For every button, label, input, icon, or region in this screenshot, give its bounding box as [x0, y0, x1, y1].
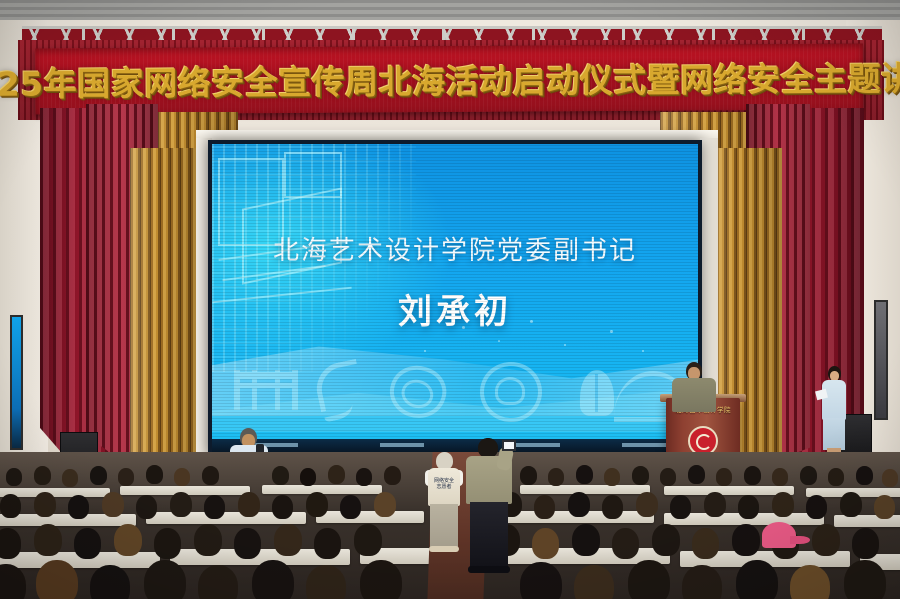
circuit-box [284, 152, 342, 198]
left-side-display [10, 315, 23, 450]
archway-icon [234, 370, 298, 410]
auditorium-scene: 2025年国家网络安全宣传周北海活动启动仪式暨网络安全主题讲座 [0, 0, 900, 599]
head [478, 438, 498, 458]
camera-device [502, 440, 516, 451]
trousers [470, 502, 508, 568]
trousers [430, 504, 458, 548]
skirt [823, 418, 845, 450]
shoes [468, 566, 510, 573]
event-banner: 2025年国家网络安全宣传周北海活动启动仪式暨网络安全主题讲座 [35, 43, 863, 114]
emblem-icon [480, 362, 542, 422]
screen-name-line: 刘承初 [212, 284, 698, 333]
screen-bottom-bar [212, 439, 698, 452]
shoes [429, 546, 459, 552]
torso [672, 378, 716, 412]
banner-title: 2025年国家网络安全宣传周北海活动启动仪式暨网络安全主题讲座 [0, 52, 900, 106]
gold-curtain-left [130, 148, 198, 470]
pink-cap [762, 522, 796, 548]
photographer-front [464, 438, 520, 578]
led-screen-frame: 北海艺术设计学院党委副书记 刘承初 [208, 140, 702, 456]
torso [822, 380, 846, 420]
vest-label-front: 网络安全 志愿者 [433, 478, 455, 491]
volunteer-in-vest-front: 网络安全 志愿者 [428, 452, 462, 554]
shell-icon [580, 370, 614, 416]
screen-title-line: 北海艺术设计学院党委副书记 [212, 230, 698, 267]
led-screen: 北海艺术设计学院党委副书记 刘承初 [212, 144, 698, 452]
right-side-display [874, 300, 888, 420]
podium-speaker [668, 362, 722, 414]
